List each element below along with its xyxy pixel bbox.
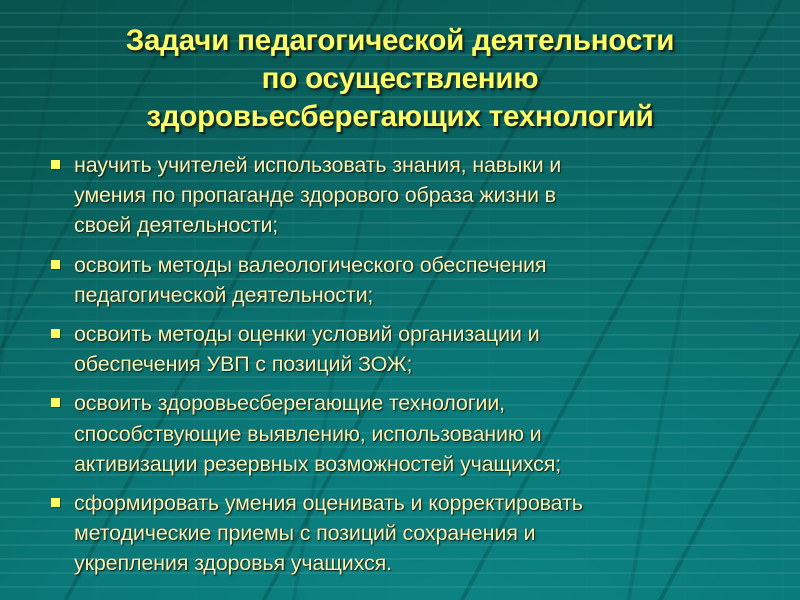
list-item-line: научить учителей использовать знания, на… <box>74 150 760 180</box>
list-item: сформировать умения оценивать и корректи… <box>44 488 760 579</box>
list-item-line: педагогической деятельности; <box>74 280 760 310</box>
list-item-line: укрепления здоровья учащихся. <box>74 548 760 578</box>
slide-title-line-1: Задачи педагогической деятельности <box>28 22 772 60</box>
list-item-text: сформировать умения оценивать и корректи… <box>74 488 760 579</box>
list-item: освоить методы валеологического обеспече… <box>44 250 760 310</box>
presentation-slide: Задачи педагогической деятельности по ос… <box>0 0 800 600</box>
slide-title-line-2: по осуществлению <box>28 60 772 98</box>
slide-content: Задачи педагогической деятельности по ос… <box>0 0 800 600</box>
square-bullet-icon <box>51 260 60 269</box>
list-item-line: обеспечения УВП с позиций ЗОЖ; <box>74 349 760 379</box>
bullet-list: научить учителей использовать знания, на… <box>44 150 760 579</box>
list-item-text: научить учителей использовать знания, на… <box>74 150 760 241</box>
list-item-line: активизации резервных возможностей учащи… <box>74 449 760 479</box>
square-bullet-icon <box>51 160 60 169</box>
list-item-line: способствующие выявлению, использованию … <box>74 419 760 449</box>
list-item-line: освоить методы валеологического обеспече… <box>74 250 760 280</box>
list-item: освоить методы оценки условий организаци… <box>44 319 760 379</box>
list-item: освоить здоровьесберегающие технологии, … <box>44 388 760 479</box>
list-item-line: методические приемы с позиций сохранения… <box>74 518 760 548</box>
list-item-line: сформировать умения оценивать и корректи… <box>74 488 760 518</box>
square-bullet-icon <box>51 398 60 407</box>
list-item-line: своей деятельности; <box>74 210 760 240</box>
square-bullet-icon <box>51 329 60 338</box>
list-item-line: умения по пропаганде здорового образа жи… <box>74 180 760 210</box>
slide-title-line-3: здоровьесберегающих технологий <box>28 98 772 136</box>
list-item: научить учителей использовать знания, на… <box>44 150 760 241</box>
list-item-line: освоить здоровьесберегающие технологии, <box>74 388 760 418</box>
list-item-line: освоить методы оценки условий организаци… <box>74 319 760 349</box>
square-bullet-icon <box>51 498 60 507</box>
list-item-text: освоить методы оценки условий организаци… <box>74 319 760 379</box>
list-item-text: освоить методы валеологического обеспече… <box>74 250 760 310</box>
slide-title: Задачи педагогической деятельности по ос… <box>28 22 772 136</box>
list-item-text: освоить здоровьесберегающие технологии, … <box>74 388 760 479</box>
